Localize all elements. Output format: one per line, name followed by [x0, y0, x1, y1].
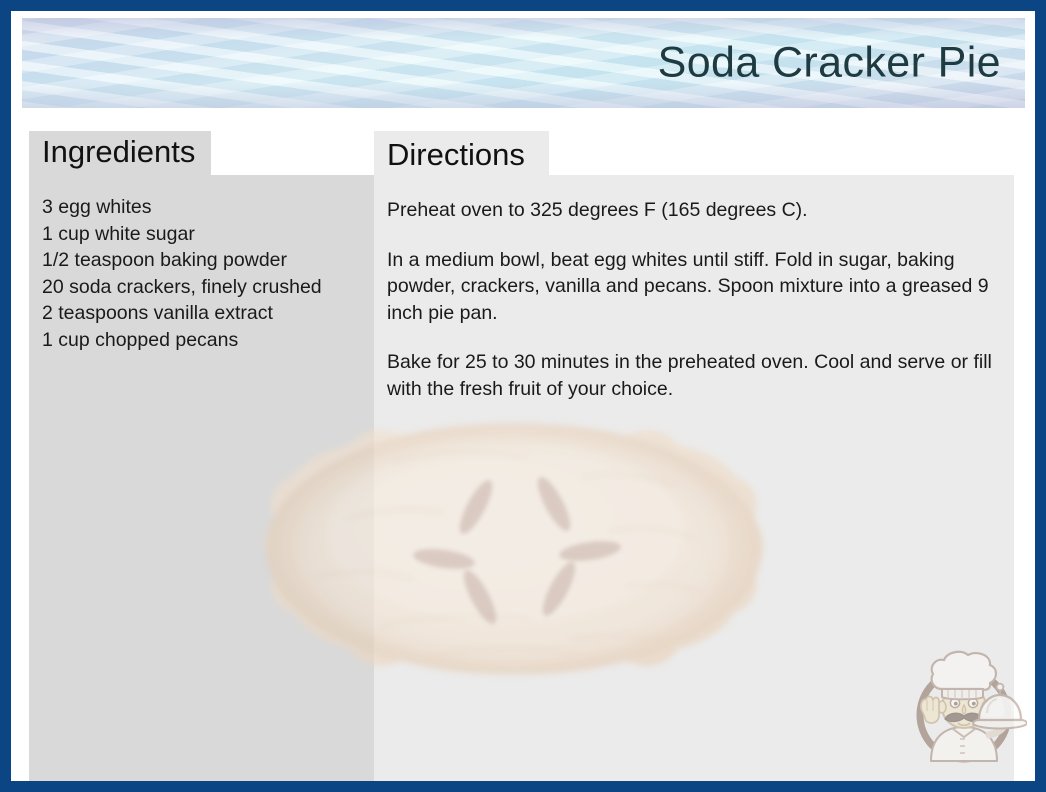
list-item: 1 cup white sugar — [42, 221, 360, 248]
ingredients-panel: Ingredients 3 egg whites 1 cup white sug… — [29, 131, 374, 781]
list-item: 2 teaspoons vanilla extract — [42, 300, 360, 327]
panels-container: Ingredients 3 egg whites 1 cup white sug… — [22, 131, 1024, 781]
direction-step: Bake for 25 to 30 minutes in the preheat… — [387, 349, 996, 402]
directions-body: Preheat oven to 325 degrees F (165 degre… — [387, 197, 996, 402]
direction-step: In a medium bowl, beat egg whites until … — [387, 247, 996, 327]
ingredients-tab-notch — [211, 131, 374, 175]
ingredients-list: 3 egg whites 1 cup white sugar 1/2 teasp… — [42, 194, 360, 353]
list-item: 3 egg whites — [42, 194, 360, 221]
direction-step: Preheat oven to 325 degrees F (165 degre… — [387, 197, 996, 224]
page-title: Soda Cracker Pie — [658, 39, 1001, 88]
directions-tab-notch — [549, 131, 1014, 175]
list-item: 20 soda crackers, finely crushed — [42, 274, 360, 301]
ingredients-heading: Ingredients — [42, 130, 195, 174]
list-item: 1/2 teaspoon baking powder — [42, 247, 360, 274]
directions-heading: Directions — [387, 133, 525, 177]
recipe-card: Soda Cracker Pie — [0, 0, 1046, 792]
directions-panel: Directions Preheat oven to 325 degrees F… — [374, 131, 1014, 781]
title-banner: Soda Cracker Pie — [22, 18, 1025, 108]
list-item: 1 cup chopped pecans — [42, 327, 360, 354]
ingredients-body: 3 egg whites 1 cup white sugar 1/2 teasp… — [42, 194, 360, 353]
